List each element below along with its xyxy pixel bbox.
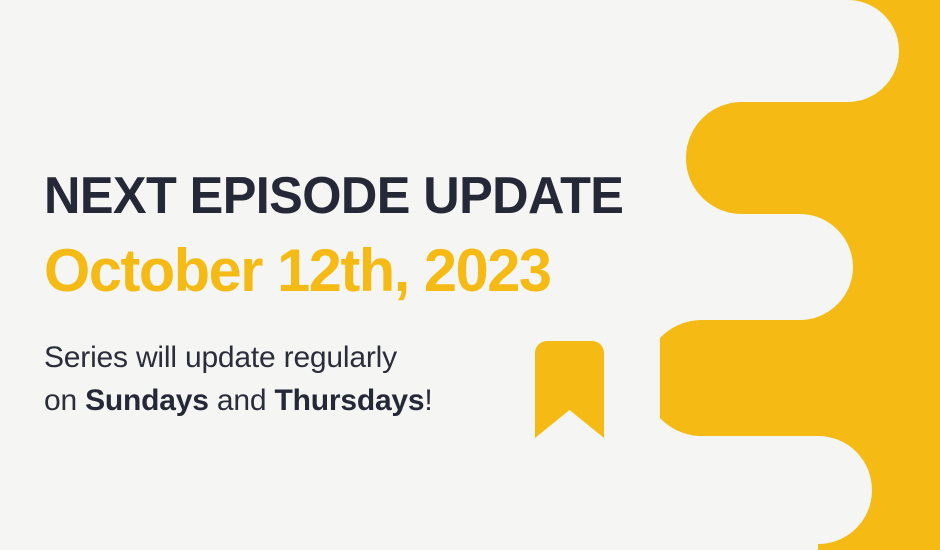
episode-date: October 12th, 2023 — [44, 238, 551, 304]
banner-content: NEXT EPISODE UPDATE October 12th, 2023 S… — [44, 0, 704, 550]
schedule-line-1: Series will update regularly — [44, 336, 514, 379]
bookmark-icon — [535, 341, 604, 438]
schedule-day-thursdays: Thursdays — [274, 384, 424, 417]
schedule-line-2-suffix: ! — [424, 384, 432, 417]
schedule-line-2-prefix: on — [44, 384, 85, 417]
schedule-day-sundays: Sundays — [85, 384, 209, 417]
schedule-line-2: on Sundays and Thursdays! — [44, 379, 514, 422]
schedule-description: Series will update regularly on Sundays … — [44, 336, 514, 422]
schedule-line-2-middle: and — [209, 384, 275, 417]
next-episode-update-banner: NEXT EPISODE UPDATE October 12th, 2023 S… — [0, 0, 940, 550]
page-title: NEXT EPISODE UPDATE — [44, 168, 623, 224]
